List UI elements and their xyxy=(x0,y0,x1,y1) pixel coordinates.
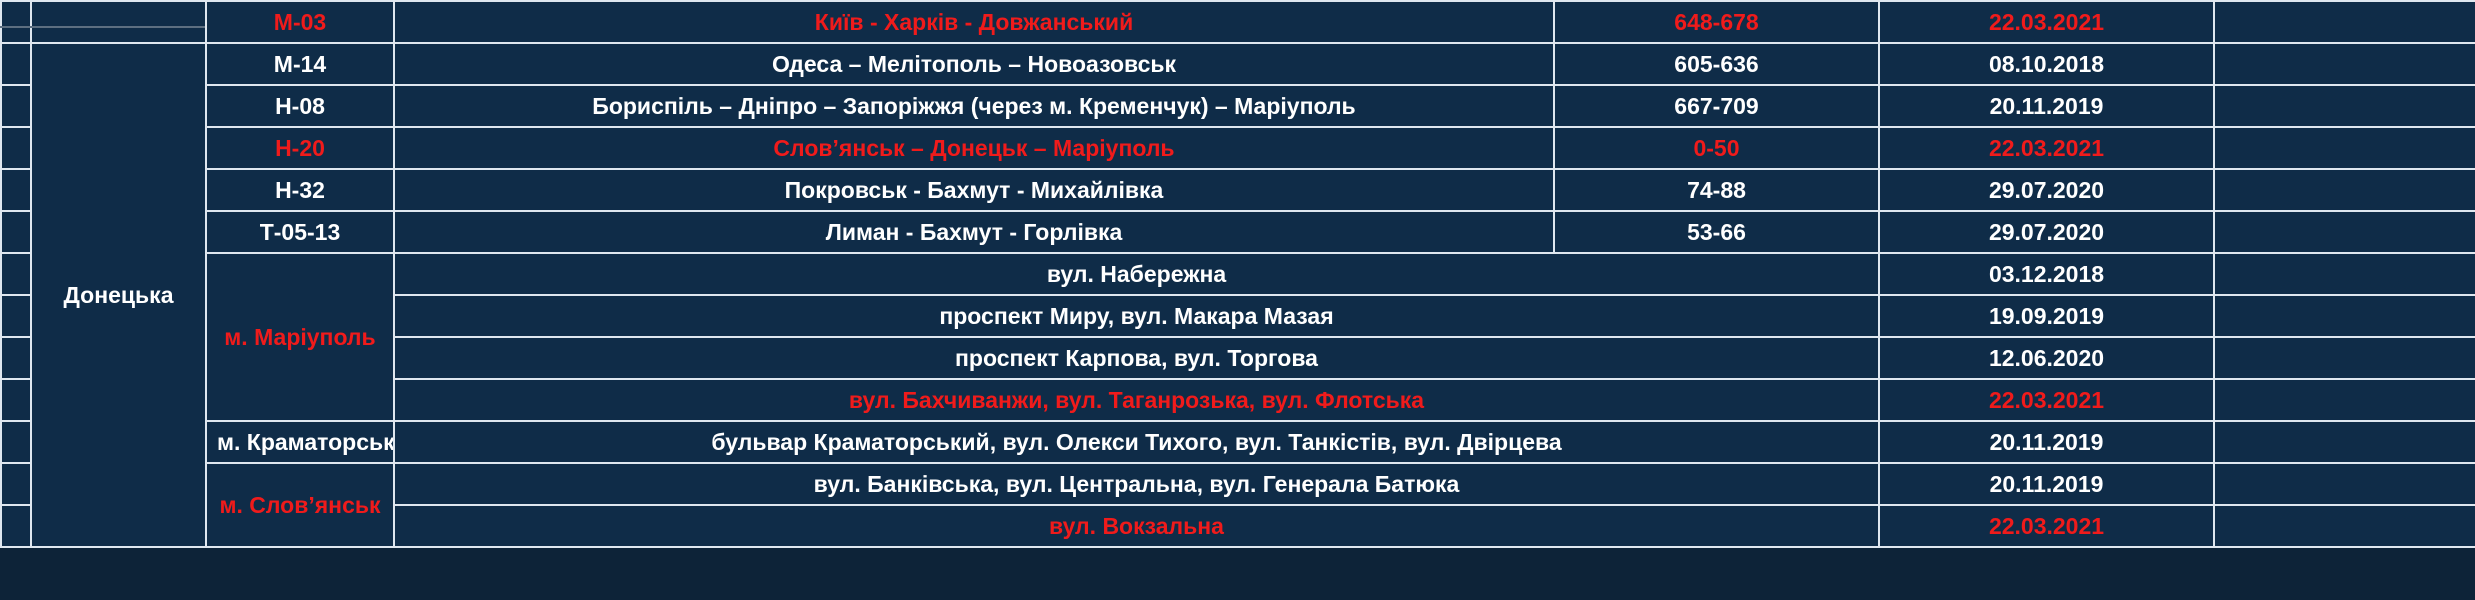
route-name-cell: Бориспіль – Дніпро – Запоріжжя (через м.… xyxy=(394,85,1554,127)
page-margin-right-cell xyxy=(2214,211,2475,253)
page-margin-cell xyxy=(1,43,31,85)
roads-table-body: М-03Київ - Харків - Довжанський648-67822… xyxy=(1,1,2475,547)
kilometre-range-cell: 53-66 xyxy=(1554,211,1879,253)
date-cell: 20.11.2019 xyxy=(1879,463,2214,505)
page-margin-cell xyxy=(1,127,31,169)
table-row: м. Маріупольвул. Набережна03.12.2018 xyxy=(1,253,2475,295)
page-margin-cell xyxy=(1,463,31,505)
date-cell: 20.11.2019 xyxy=(1879,421,2214,463)
kilometre-range-cell: 648-678 xyxy=(1554,1,1879,43)
table-row: ДонецькаМ-14Одеса – Мелітополь – Новоазо… xyxy=(1,43,2475,85)
page-margin-right-cell xyxy=(2214,169,2475,211)
date-cell: 29.07.2020 xyxy=(1879,211,2214,253)
page-margin-right-cell xyxy=(2214,379,2475,421)
page-margin-right-cell xyxy=(2214,421,2475,463)
route-name-cell: вул. Банківська, вул. Центральна, вул. Г… xyxy=(394,463,1879,505)
page-margin-right-cell xyxy=(2214,1,2475,43)
city-name-cell: м. Слов’янськ xyxy=(206,463,394,547)
route-name-cell: проспект Карпова, вул. Торгова xyxy=(394,337,1879,379)
page-margin-cell xyxy=(1,421,31,463)
region-spacer-cell xyxy=(31,1,206,43)
region-name-cell: Донецька xyxy=(31,43,206,547)
page-margin-cell xyxy=(1,169,31,211)
page-margin-right-cell xyxy=(2214,127,2475,169)
page-margin-right-cell xyxy=(2214,505,2475,547)
route-name-cell: Одеса – Мелітополь – Новоазовськ xyxy=(394,43,1554,85)
roads-table: М-03Київ - Харків - Довжанський648-67822… xyxy=(0,0,2475,548)
kilometre-range-cell: 667-709 xyxy=(1554,85,1879,127)
page-margin-right-cell xyxy=(2214,85,2475,127)
page-margin-cell xyxy=(1,337,31,379)
page-margin-right-cell xyxy=(2214,463,2475,505)
page-margin-cell xyxy=(1,211,31,253)
route-name-cell: вул. Набережна xyxy=(394,253,1879,295)
route-index-cell: Н-32 xyxy=(206,169,394,211)
date-cell: 20.11.2019 xyxy=(1879,85,2214,127)
route-index-cell: М-03 xyxy=(206,1,394,43)
table-row: Н-20Слов’янськ – Донецьк – Маріуполь0-50… xyxy=(1,127,2475,169)
table-row: Н-08Бориспіль – Дніпро – Запоріжжя (чере… xyxy=(1,85,2475,127)
date-cell: 22.03.2021 xyxy=(1879,379,2214,421)
page-margin-right-cell xyxy=(2214,43,2475,85)
route-index-cell: Т-05-13 xyxy=(206,211,394,253)
page-margin-cell xyxy=(1,295,31,337)
page-margin-cell xyxy=(1,1,31,43)
page-margin-cell xyxy=(1,379,31,421)
route-name-cell: Лиман - Бахмут - Горлівка xyxy=(394,211,1554,253)
kilometre-range-cell: 74-88 xyxy=(1554,169,1879,211)
page-margin-cell xyxy=(1,85,31,127)
date-cell: 03.12.2018 xyxy=(1879,253,2214,295)
page-margin-right-cell xyxy=(2214,337,2475,379)
route-name-cell: проспект Миру, вул. Макара Мазая xyxy=(394,295,1879,337)
route-name-cell: вул. Бахчиванжи, вул. Таганрозька, вул. … xyxy=(394,379,1879,421)
date-cell: 08.10.2018 xyxy=(1879,43,2214,85)
kilometre-range-cell: 605-636 xyxy=(1554,43,1879,85)
top-rule xyxy=(0,26,205,28)
route-index-cell: Н-20 xyxy=(206,127,394,169)
route-name-cell: вул. Вокзальна xyxy=(394,505,1879,547)
page-margin-cell xyxy=(1,253,31,295)
route-name-cell: Слов’янськ – Донецьк – Маріуполь xyxy=(394,127,1554,169)
kilometre-range-cell: 0-50 xyxy=(1554,127,1879,169)
city-name-cell: м. Маріуполь xyxy=(206,253,394,421)
page-margin-right-cell xyxy=(2214,295,2475,337)
route-index-cell: Н-08 xyxy=(206,85,394,127)
page-margin-cell xyxy=(1,505,31,547)
document-page: М-03Київ - Харків - Довжанський648-67822… xyxy=(0,0,2475,600)
page-margin-right-cell xyxy=(2214,253,2475,295)
table-row: Н-32Покровськ - Бахмут - Михайлівка74-88… xyxy=(1,169,2475,211)
date-cell: 29.07.2020 xyxy=(1879,169,2214,211)
date-cell: 12.06.2020 xyxy=(1879,337,2214,379)
route-name-cell: бульвар Краматорський, вул. Олекси Тихог… xyxy=(394,421,1879,463)
table-row: м. Краматорськбульвар Краматорський, вул… xyxy=(1,421,2475,463)
route-name-cell: Покровськ - Бахмут - Михайлівка xyxy=(394,169,1554,211)
route-name-cell: Київ - Харків - Довжанський xyxy=(394,1,1554,43)
table-row: М-03Київ - Харків - Довжанський648-67822… xyxy=(1,1,2475,43)
date-cell: 22.03.2021 xyxy=(1879,1,2214,43)
date-cell: 19.09.2019 xyxy=(1879,295,2214,337)
table-row: Т-05-13Лиман - Бахмут - Горлівка53-6629.… xyxy=(1,211,2475,253)
table-row: м. Слов’янськвул. Банківська, вул. Центр… xyxy=(1,463,2475,505)
date-cell: 22.03.2021 xyxy=(1879,127,2214,169)
date-cell: 22.03.2021 xyxy=(1879,505,2214,547)
city-name-cell: м. Краматорськ xyxy=(206,421,394,463)
route-index-cell: М-14 xyxy=(206,43,394,85)
